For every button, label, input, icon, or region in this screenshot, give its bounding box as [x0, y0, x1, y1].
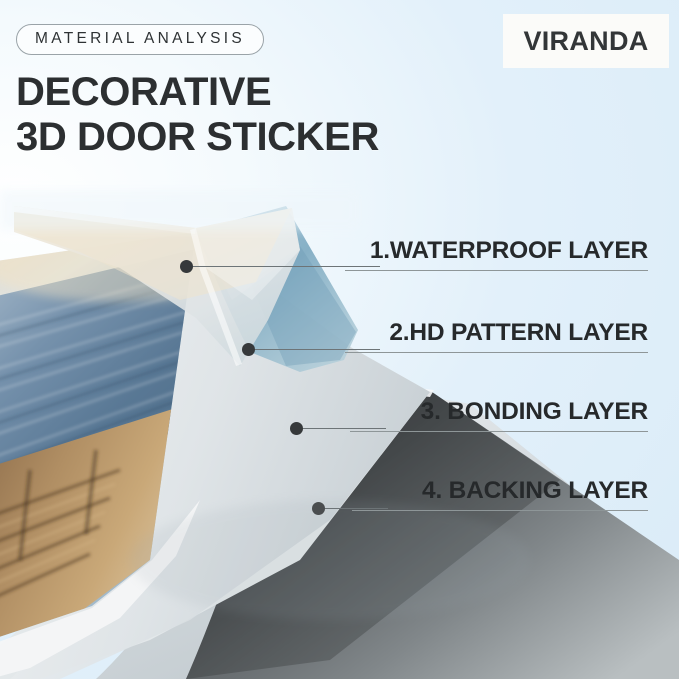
callout-dot-3 [290, 422, 303, 435]
callout-2-label: 2.HD PATTERN LAYER [345, 320, 648, 352]
callout-2-underline [345, 352, 648, 353]
brand-logo: VIRANDA [503, 14, 669, 68]
callout-3-underline [350, 431, 648, 432]
callout-dot-1 [180, 260, 193, 273]
callout-4-underline [352, 510, 648, 511]
poster-canvas: MATERIAL ANALYSIS DECORATIVE 3D DOOR STI… [0, 0, 679, 679]
page-title-line2: 3D DOOR STICKER [16, 115, 379, 160]
callout-4-label: 4. BACKING LAYER [352, 478, 648, 510]
callout-2: 2.HD PATTERN LAYER [345, 320, 648, 353]
page-title: DECORATIVE 3D DOOR STICKER [16, 70, 379, 160]
callout-4: 4. BACKING LAYER [352, 478, 648, 511]
callout-dot-2 [242, 343, 255, 356]
callout-1-underline [345, 270, 648, 271]
eyebrow-badge: MATERIAL ANALYSIS [16, 24, 264, 55]
page-title-line1: DECORATIVE [16, 70, 271, 114]
callout-3-label: 3. BONDING LAYER [350, 399, 648, 431]
callout-3: 3. BONDING LAYER [350, 399, 648, 432]
callout-1-label: 1.WATERPROOF LAYER [345, 238, 648, 270]
brand-logo-text: VIRANDA [523, 26, 648, 57]
callout-1: 1.WATERPROOF LAYER [345, 238, 648, 271]
callout-dot-4 [312, 502, 325, 515]
